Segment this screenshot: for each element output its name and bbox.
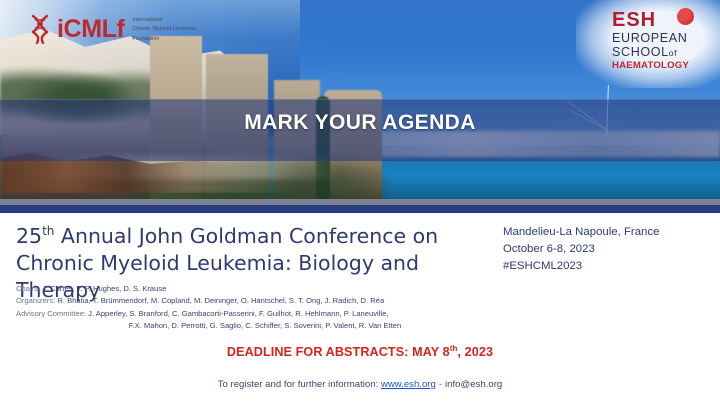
event-hashtag: #ESHCML2023 bbox=[503, 258, 718, 275]
esh-email-address[interactable]: info@esh.org bbox=[445, 379, 502, 390]
esh-school-word: SCHOOL bbox=[612, 45, 669, 59]
credits-organizers-row: Organizers: R. Bhatia, T. Brümmendorf, M… bbox=[16, 295, 488, 307]
event-location: Mandelieu-La Napoule, France bbox=[503, 224, 718, 241]
conference-title-number: 25 bbox=[16, 224, 42, 248]
credits-chairs-names: J. Cortes, T. P. Hughes, D. S. Krause bbox=[40, 284, 166, 293]
icmlf-logo[interactable]: iCMLf International Chronic Myeloid Leuk… bbox=[28, 14, 196, 44]
footer-separator: - bbox=[436, 379, 445, 390]
conference-title-line1: Annual John Goldman Conference on bbox=[54, 224, 438, 248]
poster-body: 25th Annual John Goldman Conference on C… bbox=[0, 213, 720, 405]
esh-logo[interactable]: ESH EUROPEAN SCHOOLof HAEMATOLOGY bbox=[598, 6, 710, 62]
banner-headline: MARK YOUR AGENDA bbox=[0, 111, 720, 135]
conference-poster: MARK YOUR AGENDA iCMLf International bbox=[0, 0, 720, 405]
credits-advisory-names-2: F.X. Mahon, D. Perrotti, G. Saglio, C. S… bbox=[129, 321, 402, 330]
credits-advisory-names-1: J. Apperley, S. Branford, C. Gambacorti-… bbox=[86, 309, 388, 318]
esh-acronym: ESH bbox=[612, 10, 710, 30]
esh-website-link[interactable]: www.esh.org bbox=[381, 379, 436, 390]
registration-footer: To register and for further information:… bbox=[0, 379, 720, 390]
deadline-text-before: DEADLINE FOR ABSTRACTS: MAY 8 bbox=[227, 345, 450, 359]
icmlf-dna-mark-icon bbox=[28, 14, 52, 44]
icmlf-subtitle-line-1: International bbox=[132, 17, 162, 23]
esh-line-haematology: HAEMATOLOGY bbox=[612, 60, 710, 72]
esh-line-european: EUROPEAN bbox=[612, 31, 710, 45]
esh-logo-inner: ESH EUROPEAN SCHOOLof HAEMATOLOGY bbox=[598, 6, 710, 72]
credits-chairs-row: Chairs: J. Cortes, T. P. Hughes, D. S. K… bbox=[16, 283, 488, 295]
esh-red-circle-icon bbox=[677, 8, 694, 25]
conference-title-ordinal: th bbox=[42, 224, 54, 238]
abstract-deadline: DEADLINE FOR ABSTRACTS: MAY 8th, 2023 bbox=[0, 345, 720, 359]
icmlf-wordmark: iCMLf bbox=[57, 17, 124, 42]
deadline-text-after: , 2023 bbox=[457, 345, 493, 359]
credits-advisory-row-2: F.X. Mahon, D. Perrotti, G. Saglio, C. S… bbox=[16, 320, 488, 332]
credits-block: Chairs: J. Cortes, T. P. Hughes, D. S. K… bbox=[16, 283, 488, 332]
icmlf-subtitle-line-2: Chronic Myeloid Leukemia bbox=[132, 26, 196, 32]
registration-intro: To register and for further information: bbox=[218, 379, 379, 390]
icmlf-subtitle: International Chronic Myeloid Leukemia F… bbox=[129, 14, 196, 44]
divider-navy bbox=[0, 205, 720, 213]
credits-organizers-label: Organizers: bbox=[16, 296, 55, 305]
esh-line-school: SCHOOLof bbox=[612, 45, 710, 59]
credits-advisory-label: Advisory Committee: bbox=[16, 309, 86, 318]
credits-chairs-label: Chairs: bbox=[16, 284, 40, 293]
icmlf-subtitle-line-3: Foundation bbox=[132, 36, 159, 42]
credits-advisory-row: Advisory Committee: J. Apperley, S. Bran… bbox=[16, 308, 488, 320]
credits-organizers-names: R. Bhatia, T. Brümmendorf, M. Copland, M… bbox=[55, 296, 384, 305]
event-dates: October 6-8, 2023 bbox=[503, 241, 718, 258]
esh-school-of: of bbox=[669, 48, 677, 58]
event-meta: Mandelieu-La Napoule, France October 6-8… bbox=[503, 224, 718, 275]
